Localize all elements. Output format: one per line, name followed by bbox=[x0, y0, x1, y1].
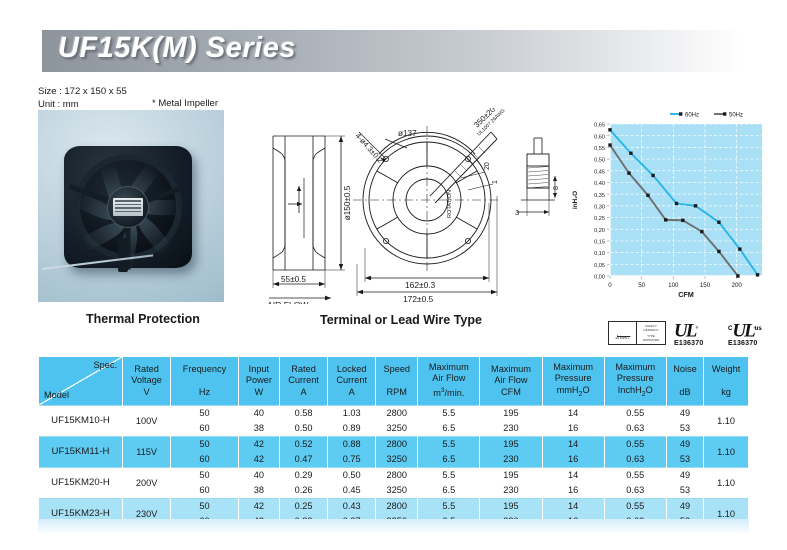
hdr-l2: Pressure bbox=[605, 373, 666, 385]
performance-chart: 0,000,050,100,150,200,250,300,350,400,45… bbox=[566, 104, 781, 304]
header-cell-weight: Weight kg bbox=[704, 357, 749, 405]
cell-rated-current: 0.29 bbox=[279, 467, 327, 483]
data-point-60Hz bbox=[651, 174, 654, 177]
ul-us-label: us bbox=[755, 326, 762, 332]
y-tick-label: 0,10 bbox=[594, 251, 605, 257]
cell-power: 40 bbox=[238, 467, 279, 483]
cell-locked-current: 0.43 bbox=[328, 498, 376, 514]
data-point-50Hz bbox=[717, 250, 720, 253]
cell-frequency: 50 bbox=[171, 498, 239, 514]
cell-pressure-mm: 14 bbox=[542, 405, 604, 421]
cell-voltage: 100V bbox=[123, 405, 171, 436]
cell-weight: 1.10 bbox=[704, 405, 749, 436]
data-point-50Hz bbox=[627, 171, 630, 174]
fan-ring bbox=[74, 154, 182, 260]
cell-locked-current: 0.50 bbox=[328, 467, 376, 483]
technical-drawings: 55±0.5 ø150±0.5 AIR FLOW ø137 4-ø4.3±0.2… bbox=[255, 108, 575, 304]
cell-frequency: 60 bbox=[171, 421, 239, 437]
cell-pressure-inch: 0.55 bbox=[604, 436, 666, 452]
y-tick-label: 0,40 bbox=[594, 181, 605, 187]
hdr-l1: Input bbox=[239, 364, 279, 376]
table-row: UF15KM11-H115V50420.520.8828005.5195140.… bbox=[39, 436, 749, 452]
cell-frequency: 50 bbox=[171, 436, 239, 452]
header-cell-voltage: Rated Voltage V bbox=[123, 357, 171, 405]
specification-table: Spec. Model Rated Voltage V Frequency Hz… bbox=[38, 357, 749, 529]
rotation-label: ROTATION bbox=[447, 190, 453, 218]
term-8-label: 8 bbox=[553, 186, 560, 190]
hdr-l3: RPM bbox=[376, 387, 417, 399]
cell-pressure-inch: 0.55 bbox=[604, 498, 666, 514]
cell-frequency: 50 bbox=[171, 405, 239, 421]
ul-listed-mark-icon: UL® E136370 bbox=[674, 318, 703, 347]
cell-locked-current: 0.45 bbox=[328, 483, 376, 499]
cell-pressure-mm: 14 bbox=[542, 436, 604, 452]
cell-voltage: 115V bbox=[123, 436, 171, 467]
cell-frequency: 50 bbox=[171, 467, 239, 483]
cell-model: UF15KM20-H bbox=[39, 467, 123, 498]
cell-speed: 3250 bbox=[376, 483, 418, 499]
cell-airflow-cfm: 195 bbox=[480, 436, 542, 452]
cell-rated-current: 0.58 bbox=[279, 405, 327, 421]
product-photo bbox=[38, 110, 224, 302]
metal-impeller-note: * Metal Impeller bbox=[152, 98, 218, 109]
header-cell-rated-current: Rated Current A bbox=[279, 357, 327, 405]
chart-svg: 0,000,050,100,150,200,250,300,350,400,45… bbox=[566, 104, 781, 304]
cell-airflow-m3: 5.5 bbox=[418, 467, 480, 483]
legend-label-50Hz: 50Hz bbox=[729, 112, 743, 118]
certification-marks: EN 60950-1 SAFETY GERMANY TYPE APPROVED … bbox=[608, 318, 783, 350]
fan-nameplate bbox=[113, 198, 143, 216]
cell-power: 42 bbox=[238, 436, 279, 452]
chart-plot-area bbox=[610, 124, 762, 276]
hdr-l1: Rated bbox=[123, 364, 170, 376]
cell-noise: 53 bbox=[666, 452, 703, 468]
cell-noise: 49 bbox=[666, 436, 703, 452]
table-row: UF15KM20-H200V50400.290.5028005.5195140.… bbox=[39, 467, 749, 483]
cert-germany-label: GERMANY bbox=[643, 328, 658, 332]
hdr-l3: InchH2O bbox=[605, 385, 666, 400]
table-body: UF15KM10-H100V50400.581.0328005.5195140.… bbox=[39, 405, 749, 529]
cell-airflow-cfm: 230 bbox=[480, 483, 542, 499]
header-model-label: Model bbox=[44, 390, 69, 402]
cell-locked-current: 0.88 bbox=[328, 436, 376, 452]
cell-speed: 2800 bbox=[376, 405, 418, 421]
cul-us-mark-icon: C UL® us E136370 bbox=[728, 318, 762, 347]
hdr-l3: dB bbox=[667, 387, 703, 399]
hdr-l3: m3/min. bbox=[418, 385, 479, 400]
y-tick-label: 0,45 bbox=[594, 169, 605, 175]
dim-depth-label: 55±0.5 bbox=[281, 275, 306, 284]
header-cell-locked-current: Locked Current A bbox=[328, 357, 376, 405]
data-point-60Hz bbox=[608, 128, 611, 131]
cell-airflow-cfm: 195 bbox=[480, 498, 542, 514]
dim-diameter-label: ø150±0.5 bbox=[343, 185, 352, 220]
hdr-l1: Maximum bbox=[480, 364, 541, 376]
cell-pressure-mm: 14 bbox=[542, 467, 604, 483]
hdr-l3: A bbox=[328, 387, 375, 399]
fan-terminal-block bbox=[118, 238, 128, 272]
cell-airflow-m3: 6.5 bbox=[418, 421, 480, 437]
cell-noise: 49 bbox=[666, 405, 703, 421]
hdr-l3: CFM bbox=[480, 387, 541, 399]
term-3-label: 3 bbox=[515, 208, 519, 217]
cell-pressure-mm: 14 bbox=[542, 498, 604, 514]
cell-airflow-cfm: 230 bbox=[480, 452, 542, 468]
cell-pressure-inch: 0.55 bbox=[604, 467, 666, 483]
cell-airflow-cfm: 195 bbox=[480, 467, 542, 483]
cell-speed: 2800 bbox=[376, 436, 418, 452]
hdr-l2: Voltage bbox=[123, 375, 170, 387]
table-header: Spec. Model Rated Voltage V Frequency Hz… bbox=[39, 357, 749, 405]
hdr-l2: Power bbox=[239, 375, 279, 387]
cell-power: 38 bbox=[238, 421, 279, 437]
data-point-50Hz bbox=[646, 194, 649, 197]
data-point-50Hz bbox=[664, 218, 667, 221]
cell-weight: 1.10 bbox=[704, 436, 749, 467]
hdr-l2 bbox=[667, 375, 703, 387]
y-tick-label: 0,55 bbox=[594, 146, 605, 152]
cell-model: UF15KM11-H bbox=[39, 436, 123, 467]
impeller-dia-label: ø137 bbox=[398, 129, 417, 138]
y-tick-label: 0,65 bbox=[594, 123, 605, 129]
data-point-50Hz bbox=[608, 143, 611, 146]
cell-speed: 2800 bbox=[376, 467, 418, 483]
hdr-l1: Maximum bbox=[418, 362, 479, 374]
term-20-label: 20 bbox=[484, 162, 491, 170]
legend-marker-50Hz bbox=[723, 112, 726, 115]
hdr-l2: Pressure bbox=[543, 373, 604, 385]
header-cell-airflow-m3: Maximum Air Flow m3/min. bbox=[418, 357, 480, 405]
cell-weight: 1.10 bbox=[704, 467, 749, 498]
cell-speed: 3250 bbox=[376, 421, 418, 437]
data-point-60Hz bbox=[629, 152, 632, 155]
header-cell-pressure-inch: Maximum Pressure InchH2O bbox=[604, 357, 666, 405]
hdr-l2 bbox=[376, 375, 417, 387]
header-cell-speed: Speed RPM bbox=[376, 357, 418, 405]
y-tick-label: 0,15 bbox=[594, 240, 605, 246]
page-title: UF15K(M) Series bbox=[58, 32, 296, 65]
cell-noise: 49 bbox=[666, 467, 703, 483]
cell-locked-current: 0.89 bbox=[328, 421, 376, 437]
hole-spec-label: 4-ø4.3±0.2 bbox=[354, 131, 385, 164]
data-point-60Hz bbox=[756, 273, 759, 276]
hdr-l3: Hz bbox=[171, 387, 238, 399]
drawing-svg: 55±0.5 ø150±0.5 AIR FLOW ø137 4-ø4.3±0.2… bbox=[255, 108, 575, 304]
cert-box-left-label: EN 60950-1 bbox=[616, 337, 630, 340]
table-row: UF15KM10-H100V50400.581.0328005.5195140.… bbox=[39, 405, 749, 421]
hdr-l2: Current bbox=[280, 375, 327, 387]
cell-locked-current: 1.03 bbox=[328, 405, 376, 421]
y-axis-title: inH₂O bbox=[572, 191, 579, 209]
y-tick-label: 0,35 bbox=[594, 193, 605, 199]
y-tick-label: 0,20 bbox=[594, 228, 605, 234]
x-tick-label: 100 bbox=[668, 282, 679, 289]
hdr-l3: kg bbox=[704, 387, 748, 399]
table-bottom-fade bbox=[38, 519, 749, 535]
data-point-60Hz bbox=[738, 247, 741, 250]
hdr-l3: W bbox=[239, 387, 279, 399]
hdr-l2: Air Flow bbox=[418, 373, 479, 385]
photo-caption: Thermal Protection bbox=[86, 312, 200, 326]
cell-airflow-m3: 6.5 bbox=[418, 483, 480, 499]
size-line: Size : 172 x 150 x 55 bbox=[38, 86, 127, 99]
cell-airflow-cfm: 195 bbox=[480, 405, 542, 421]
y-tick-label: 0,25 bbox=[594, 216, 605, 222]
hdr-l2: Air Flow bbox=[480, 375, 541, 387]
cell-airflow-m3: 5.5 bbox=[418, 405, 480, 421]
cell-pressure-mm: 16 bbox=[542, 483, 604, 499]
cell-rated-current: 0.47 bbox=[279, 452, 327, 468]
term-1-label: 1 bbox=[492, 180, 499, 184]
hdr-l1: Frequency bbox=[171, 364, 238, 376]
cell-pressure-mm: 16 bbox=[542, 421, 604, 437]
cell-speed: 2800 bbox=[376, 498, 418, 514]
header-cell-airflow-cfm: Maximum Air Flow CFM bbox=[480, 357, 542, 405]
header-spec-label: Spec. bbox=[94, 360, 118, 372]
table-row: UF15KM23-H230V50420.250.4328005.5195140.… bbox=[39, 498, 749, 514]
ul-file-number-2: E136370 bbox=[728, 340, 762, 347]
cell-rated-current: 0.52 bbox=[279, 436, 327, 452]
tuv-gs-mark-icon: EN 60950-1 SAFETY GERMANY TYPE APPROVED bbox=[608, 321, 666, 345]
x-tick-label: 150 bbox=[700, 282, 711, 289]
data-point-50Hz bbox=[736, 274, 739, 277]
cell-pressure-inch: 0.63 bbox=[604, 421, 666, 437]
y-tick-label: 0,30 bbox=[594, 204, 605, 210]
cell-pressure-inch: 0.63 bbox=[604, 483, 666, 499]
header-cell-frequency: Frequency Hz bbox=[171, 357, 239, 405]
cell-frequency: 60 bbox=[171, 452, 239, 468]
cell-voltage: 200V bbox=[123, 467, 171, 498]
y-tick-label: 0,00 bbox=[594, 275, 605, 281]
cell-noise: 49 bbox=[666, 498, 703, 514]
hdr-l2: Current bbox=[328, 375, 375, 387]
hdr-l1: Speed bbox=[376, 364, 417, 376]
fan-housing bbox=[64, 146, 192, 268]
hdr-l1: Weight bbox=[704, 364, 748, 376]
data-point-50Hz bbox=[681, 219, 684, 222]
data-point-50Hz bbox=[700, 230, 703, 233]
legend-marker-60Hz bbox=[679, 112, 682, 115]
cell-airflow-m3: 5.5 bbox=[418, 498, 480, 514]
y-tick-label: 0,60 bbox=[594, 134, 605, 140]
bolt-circle-label: 162±0.3 bbox=[405, 280, 436, 290]
cell-pressure-mm: 16 bbox=[542, 452, 604, 468]
hdr-l1: Noise bbox=[667, 364, 703, 376]
hdr-l3: mmH2O bbox=[543, 385, 604, 400]
airflow-label: AIR FLOW bbox=[267, 300, 309, 304]
size-unit-block: Size : 172 x 150 x 55 Unit : mm bbox=[38, 86, 127, 111]
cell-pressure-inch: 0.63 bbox=[604, 452, 666, 468]
ul-file-number: E136370 bbox=[674, 340, 703, 347]
cell-rated-current: 0.25 bbox=[279, 498, 327, 514]
cell-locked-current: 0.75 bbox=[328, 452, 376, 468]
hdr-l2 bbox=[171, 375, 238, 387]
cell-noise: 53 bbox=[666, 421, 703, 437]
y-tick-label: 0,05 bbox=[594, 263, 605, 269]
cell-power: 42 bbox=[238, 452, 279, 468]
cell-airflow-m3: 6.5 bbox=[418, 452, 480, 468]
x-tick-label: 50 bbox=[638, 282, 645, 289]
hdr-l1: Locked bbox=[328, 364, 375, 376]
cell-airflow-m3: 5.5 bbox=[418, 436, 480, 452]
hdr-l2 bbox=[704, 375, 748, 387]
legend-label-60Hz: 60Hz bbox=[685, 112, 699, 118]
data-point-60Hz bbox=[675, 202, 678, 205]
cell-rated-current: 0.26 bbox=[279, 483, 327, 499]
data-point-60Hz bbox=[694, 204, 697, 207]
hdr-l1: Rated bbox=[280, 364, 327, 376]
cell-airflow-cfm: 230 bbox=[480, 421, 542, 437]
cell-noise: 53 bbox=[666, 483, 703, 499]
cell-model: UF15KM10-H bbox=[39, 405, 123, 436]
drawing-caption: Terminal or Lead Wire Type bbox=[320, 313, 482, 327]
y-tick-label: 0,50 bbox=[594, 158, 605, 164]
x-axis-title: CFM bbox=[678, 290, 694, 299]
hdr-l3: V bbox=[123, 387, 170, 399]
header-cell-input-power: Input Power W bbox=[238, 357, 279, 405]
cell-speed: 3250 bbox=[376, 452, 418, 468]
hdr-l1: Maximum bbox=[605, 362, 666, 374]
x-tick-label: 200 bbox=[732, 282, 743, 289]
header-cell-pressure-mm: Maximum Pressure mmH2O bbox=[542, 357, 604, 405]
cell-power: 42 bbox=[238, 498, 279, 514]
frame-width-label: 172±0.5 bbox=[403, 294, 434, 304]
x-tick-label: 0 bbox=[608, 282, 612, 289]
hdr-l1: Maximum bbox=[543, 362, 604, 374]
hdr-l3: A bbox=[280, 387, 327, 399]
table-header-row: Spec. Model Rated Voltage V Frequency Hz… bbox=[39, 357, 749, 405]
cell-power: 38 bbox=[238, 483, 279, 499]
cell-frequency: 60 bbox=[171, 483, 239, 499]
cell-pressure-inch: 0.55 bbox=[604, 405, 666, 421]
header-cell-model: Spec. Model bbox=[39, 357, 123, 405]
data-point-60Hz bbox=[717, 221, 720, 224]
cell-power: 40 bbox=[238, 405, 279, 421]
header-cell-noise: Noise dB bbox=[666, 357, 703, 405]
cert-approved-label: APPROVED bbox=[643, 338, 660, 342]
cell-rated-current: 0.50 bbox=[279, 421, 327, 437]
